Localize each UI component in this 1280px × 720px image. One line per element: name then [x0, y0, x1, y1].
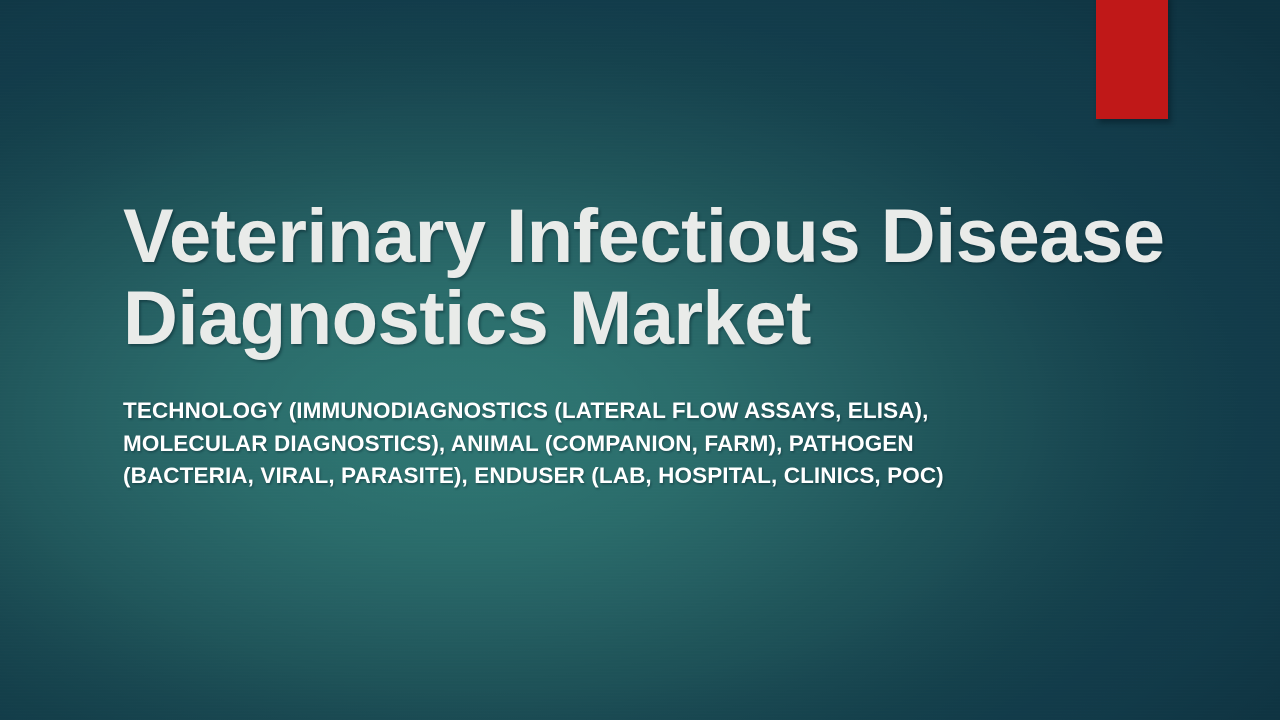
slide-subtitle-line-3: (BACTERIA, VIRAL, PARASITE), ENDUSER (LA…: [123, 460, 1123, 493]
slide-subtitle-line-1: TECHNOLOGY (IMMUNODIAGNOSTICS (LATERAL F…: [123, 395, 1123, 428]
slide-subtitle-line-2: MOLECULAR DIAGNOSTICS), ANIMAL (COMPANIO…: [123, 428, 1123, 461]
slide-title-line-1: Veterinary Infectious Disease: [123, 196, 1153, 278]
slide-title: Veterinary Infectious Disease Diagnostic…: [123, 196, 1153, 360]
presentation-title-slide: Veterinary Infectious Disease Diagnostic…: [0, 0, 1280, 720]
slide-subtitle: TECHNOLOGY (IMMUNODIAGNOSTICS (LATERAL F…: [123, 395, 1123, 493]
slide-title-line-2: Diagnostics Market: [123, 278, 1153, 360]
red-accent-rectangle: [1096, 0, 1168, 119]
